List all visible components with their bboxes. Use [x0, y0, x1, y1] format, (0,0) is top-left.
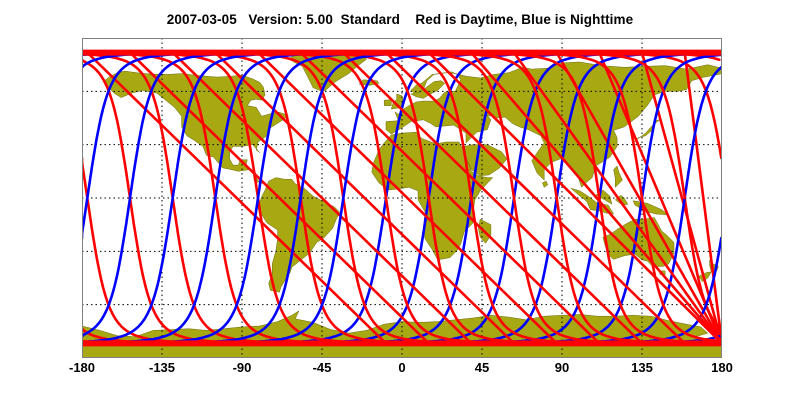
x-tick-label: 0	[398, 360, 405, 375]
x-tick-label: -45	[313, 360, 332, 375]
x-tick-label: 180	[711, 360, 733, 375]
x-tick-label: -90	[233, 360, 252, 375]
x-tick-label: -135	[149, 360, 175, 375]
figure: 2007-03-05 Version: 5.00 Standard Red is…	[0, 0, 800, 400]
x-tick-label: 135	[631, 360, 653, 375]
x-tick-label: 90	[555, 360, 569, 375]
x-axis-ticks: -180-135-90-4504590135180	[0, 0, 800, 400]
x-tick-label: -180	[69, 360, 95, 375]
x-tick-label: 45	[475, 360, 489, 375]
